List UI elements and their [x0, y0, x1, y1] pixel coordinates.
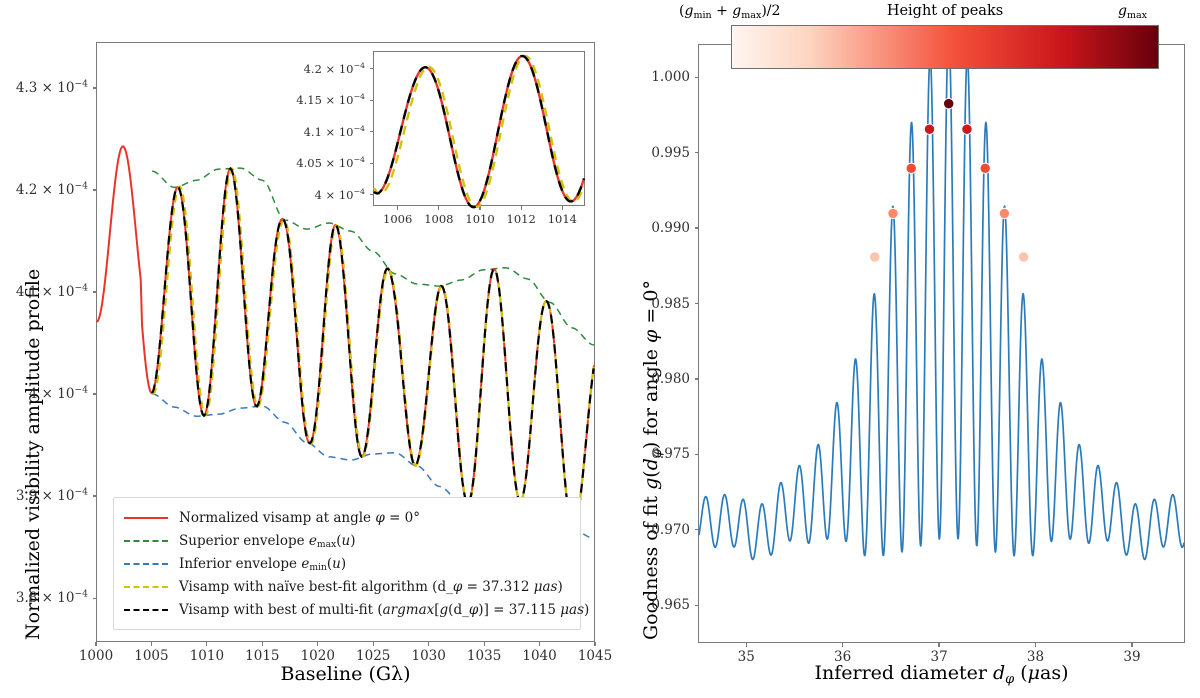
- legend-swatch-inferior-envelope: [124, 563, 168, 565]
- x-tick-mark: [938, 643, 939, 647]
- legend-swatch-multi-fit: [124, 609, 168, 611]
- legend-entry-naive-fit: Visamp with naïve best-fit algorithm (d_…: [124, 575, 568, 598]
- peak-marker: [924, 124, 934, 134]
- y-tick-label: 4.15 × 10−4: [296, 93, 365, 107]
- y-tick-label: 4.2 × 10−4: [304, 62, 365, 76]
- legend-entry-multi-fit: Visamp with best of multi-fit (argmax[g(…: [124, 598, 568, 621]
- colorbar-title: Height of peaks: [731, 3, 1159, 19]
- x-tick-mark: [373, 642, 374, 646]
- x-tick-mark: [428, 642, 429, 646]
- x-tick-mark: [397, 206, 398, 210]
- y-tick-label: 0.985: [651, 296, 690, 312]
- legend-label: Inferior envelope emin(u): [179, 556, 346, 572]
- x-tick-mark: [746, 643, 747, 647]
- peak-marker: [906, 163, 916, 173]
- x-tick-label: 1020: [301, 648, 335, 664]
- x-tick-label: 1012: [507, 212, 536, 226]
- right-x-axis-label: Inferred diameter dφ (μas): [698, 662, 1185, 684]
- x-tick-mark: [539, 642, 540, 646]
- x-tick-mark: [562, 206, 563, 210]
- y-tick-label: 4.1 × 10−4: [16, 284, 88, 300]
- y-tick-label: 4.2 × 10−4: [16, 182, 88, 198]
- x-tick-mark: [484, 642, 485, 646]
- x-tick-label: 1010: [190, 648, 224, 664]
- y-tick-label: 0.965: [651, 597, 690, 613]
- peak-marker: [888, 208, 898, 218]
- x-tick-label: 1000: [79, 648, 113, 664]
- legend-entry-visamp: Normalized visamp at angle φ = 0°: [124, 506, 568, 529]
- x-tick-mark: [521, 206, 522, 210]
- x-tick-label: 1030: [411, 648, 445, 664]
- y-tick-label: 0.975: [651, 446, 690, 462]
- peak-marker: [944, 98, 954, 108]
- y-tick-label: 4.1 × 10−4: [304, 125, 365, 139]
- colorbar-max-label: gmax: [1118, 3, 1147, 19]
- legend-label: Superior envelope emax(u): [179, 533, 356, 549]
- x-tick-mark: [262, 642, 263, 646]
- left-y-axis-label: Normalized visibility amplitude profile: [22, 269, 44, 640]
- legend-label: Visamp with naïve best-fit algorithm (d_…: [179, 579, 563, 595]
- legend-swatch-superior-envelope: [124, 540, 168, 542]
- x-tick-mark: [438, 206, 439, 210]
- figure-canvas: Normalized visibility amplitude profile …: [0, 0, 1200, 698]
- y-tick-label: 0.990: [651, 220, 690, 236]
- legend-entry-superior-envelope: Superior envelope emax(u): [124, 529, 568, 552]
- legend-label: Visamp with best of multi-fit (argmax[g(…: [179, 602, 589, 618]
- legend-entry-inferior-envelope: Inferior envelope emin(u): [124, 552, 568, 575]
- peak-marker: [870, 252, 880, 262]
- y-tick-label: 4 × 10−4: [315, 188, 365, 202]
- inset-plot-curves: [374, 52, 584, 205]
- colorbar-min-label: (gmin + gmax)/2: [679, 3, 780, 19]
- x-tick-mark: [1131, 643, 1132, 647]
- legend-label: Normalized visamp at angle φ = 0°: [179, 510, 420, 526]
- x-tick-label: 1008: [424, 212, 453, 226]
- y-tick-label: 0.980: [651, 371, 690, 387]
- left-x-axis-label: Baseline (Gλ): [96, 663, 595, 685]
- x-tick-mark: [842, 643, 843, 647]
- left-legend: Normalized visamp at angle φ = 0°Superio…: [113, 497, 581, 630]
- x-tick-mark: [594, 642, 595, 646]
- x-tick-mark: [206, 642, 207, 646]
- colorbar-connector: [698, 44, 731, 45]
- x-tick-mark: [1035, 643, 1036, 647]
- peak-marker: [1018, 252, 1028, 262]
- peak-marker: [962, 124, 972, 134]
- y-tick-label: 4.3 × 10−4: [16, 80, 88, 96]
- y-tick-label: 1.000: [651, 69, 690, 85]
- colorbar-connector: [1159, 44, 1185, 45]
- peak-marker: [980, 163, 990, 173]
- x-tick-label: 1010: [465, 212, 494, 226]
- inset-plot-axes: [373, 51, 585, 206]
- legend-swatch-visamp: [124, 517, 168, 519]
- y-tick-label: 3.8 × 10−4: [16, 590, 88, 606]
- x-tick-mark: [317, 642, 318, 646]
- x-tick-label: 1005: [134, 648, 168, 664]
- peak-marker: [999, 208, 1009, 218]
- x-tick-label: 1045: [578, 648, 612, 664]
- x-tick-label: 1014: [548, 212, 577, 226]
- y-tick-label: 0.995: [651, 145, 690, 161]
- y-tick-label: 0.970: [651, 522, 690, 538]
- colorbar: [731, 25, 1159, 69]
- y-tick-label: 4 × 10−4: [29, 386, 88, 402]
- right-plot-curve: [699, 45, 1184, 642]
- x-tick-label: 1006: [383, 212, 412, 226]
- legend-swatch-naive-fit: [124, 586, 168, 588]
- x-tick-label: 1015: [245, 648, 279, 664]
- x-tick-label: 1025: [356, 648, 390, 664]
- y-tick-label: 3.9 × 10−4: [16, 488, 88, 504]
- x-tick-mark: [95, 642, 96, 646]
- x-tick-mark: [151, 642, 152, 646]
- x-tick-label: 1040: [522, 648, 556, 664]
- y-tick-label: 4.05 × 10−4: [296, 156, 365, 170]
- x-tick-label: 1035: [467, 648, 501, 664]
- right-plot-axes: [698, 44, 1185, 643]
